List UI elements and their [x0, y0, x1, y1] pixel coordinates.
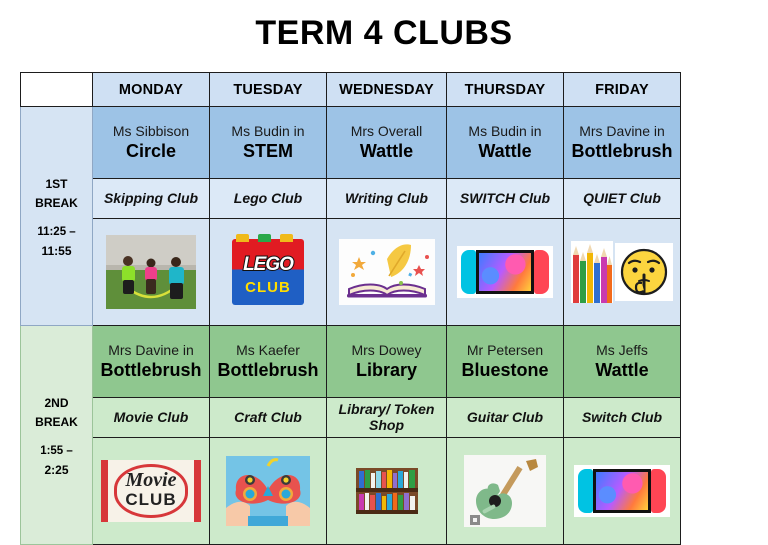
cell-club-fri-1: QUIET Club	[564, 179, 681, 219]
cell-club-fri-2: Switch Club	[564, 398, 681, 438]
coloured-pencils-photo	[571, 241, 613, 303]
switch-left-joycon	[578, 469, 593, 513]
nintendo-switch-console	[457, 246, 553, 298]
teacher-room: Bottlebrush	[564, 141, 680, 162]
cell-club-mon-1: Skipping Club	[93, 179, 210, 219]
cell-club-thu-1: SWITCH Club	[447, 179, 564, 219]
teacher-name: Mrs Davine in	[93, 342, 209, 359]
first-break-teacher-row: 1ST BREAK 11:25 – 11:55 Ms Sibbison Circ…	[21, 107, 681, 179]
first-break-club-row: Skipping Club Lego Club Writing Club SWI…	[21, 179, 681, 219]
second-break-club-row: Movie Club Craft Club Library/ Token Sho…	[21, 398, 681, 438]
cell-club-tue-2: Craft Club	[210, 398, 327, 438]
skipping-rope-photo	[106, 235, 196, 309]
teacher-room: Bottlebrush	[210, 360, 326, 381]
teacher-name: Ms Kaefer	[210, 342, 326, 359]
cell-teacher-thu-1: Ms Budin in Wattle	[447, 107, 564, 179]
cell-teacher-wed-1: Mrs Overall Wattle	[327, 107, 447, 179]
teacher-name: Ms Budin in	[447, 123, 563, 140]
quill-and-book	[339, 239, 435, 305]
second-break-time-end: 2:25	[21, 459, 92, 478]
cell-teacher-thu-2: Mr Petersen Bluestone	[447, 326, 564, 398]
cell-picture-mon-2: Movie CLUB	[93, 438, 210, 545]
teacher-room: Wattle	[327, 141, 446, 162]
movie-logo-word1: Movie	[108, 469, 194, 492]
table-header-row: MONDAY TUESDAY WEDNESDAY THURSDAY FRIDAY	[21, 73, 681, 107]
acoustic-guitar	[464, 455, 546, 527]
teacher-room: Wattle	[447, 141, 563, 162]
day-header-thursday: THURSDAY	[447, 73, 564, 107]
teacher-name: Ms Jeffs	[564, 342, 680, 359]
cell-picture-tue-1: LEGO CLUB	[210, 219, 327, 326]
second-break-label-cell: 2ND BREAK 1:55 – 2:25	[21, 326, 93, 545]
bookshelf-photo	[356, 468, 418, 514]
craft-butterfly-photo	[226, 456, 310, 526]
pencils-and-shush-emoji	[571, 241, 673, 303]
lego-logo-word2: CLUB	[232, 279, 304, 296]
shushing-face-emoji	[615, 243, 673, 301]
switch-right-joycon	[534, 250, 549, 294]
movie-logo-word2: CLUB	[108, 490, 194, 510]
teacher-name: Ms Budin in	[210, 123, 326, 140]
second-break-picture-row: Movie CLUB	[21, 438, 681, 545]
cell-teacher-tue-2: Ms Kaefer Bottlebrush	[210, 326, 327, 398]
teacher-name: Mrs Dowey	[327, 342, 446, 359]
first-break-time-end: 11:55	[21, 240, 92, 259]
cell-teacher-wed-2: Mrs Dowey Library	[327, 326, 447, 398]
cell-picture-mon-1	[93, 219, 210, 326]
first-break-picture-row: LEGO CLUB	[21, 219, 681, 326]
cell-teacher-fri-2: Ms Jeffs Wattle	[564, 326, 681, 398]
teacher-room: Wattle	[564, 360, 680, 381]
nintendo-switch-console	[574, 465, 670, 517]
cell-teacher-mon-1: Ms Sibbison Circle	[93, 107, 210, 179]
cell-picture-thu-2	[447, 438, 564, 545]
teacher-room: Bottlebrush	[93, 360, 209, 381]
switch-left-joycon	[461, 250, 476, 294]
cell-picture-tue-2	[210, 438, 327, 545]
cell-picture-thu-1	[447, 219, 564, 326]
lego-club-logo: LEGO CLUB	[232, 239, 304, 305]
teacher-room: Library	[327, 360, 446, 381]
cell-picture-fri-2	[564, 438, 681, 545]
cell-picture-fri-1	[564, 219, 681, 326]
switch-right-joycon	[651, 469, 666, 513]
cell-teacher-tue-1: Ms Budin in STEM	[210, 107, 327, 179]
cell-club-mon-2: Movie Club	[93, 398, 210, 438]
teacher-name: Mr Petersen	[447, 342, 563, 359]
movie-club-logo: Movie CLUB	[101, 460, 201, 522]
second-break-line1: 2ND	[21, 392, 92, 411]
first-break-line1: 1ST	[21, 173, 92, 192]
second-break-time-start: 1:55 –	[21, 444, 92, 458]
header-corner-cell	[21, 73, 93, 107]
lego-logo-word1: LEGO	[232, 254, 304, 276]
teacher-room: Circle	[93, 141, 209, 162]
teacher-name: Ms Sibbison	[93, 123, 209, 140]
day-header-monday: MONDAY	[93, 73, 210, 107]
cell-club-tue-1: Lego Club	[210, 179, 327, 219]
teacher-room: Bluestone	[447, 360, 563, 381]
cell-picture-wed-2	[327, 438, 447, 545]
teacher-name: Mrs Overall	[327, 123, 446, 140]
switch-screen	[476, 250, 534, 294]
cell-teacher-fri-1: Mrs Davine in Bottlebrush	[564, 107, 681, 179]
day-header-friday: FRIDAY	[564, 73, 681, 107]
switch-screen	[593, 469, 651, 513]
cell-picture-wed-1	[327, 219, 447, 326]
cell-club-thu-2: Guitar Club	[447, 398, 564, 438]
second-break-line2: BREAK	[21, 411, 92, 430]
first-break-line2: BREAK	[21, 192, 92, 211]
day-header-tuesday: TUESDAY	[210, 73, 327, 107]
clubs-schedule-table: MONDAY TUESDAY WEDNESDAY THURSDAY FRIDAY…	[20, 72, 681, 545]
page-title: TERM 4 CLUBS	[0, 14, 768, 53]
second-break-teacher-row: 2ND BREAK 1:55 – 2:25 Mrs Davine in Bott…	[21, 326, 681, 398]
first-break-time-start: 11:25 –	[21, 225, 92, 239]
cell-teacher-mon-2: Mrs Davine in Bottlebrush	[93, 326, 210, 398]
first-break-label-cell: 1ST BREAK 11:25 – 11:55	[21, 107, 93, 326]
teacher-name: Mrs Davine in	[564, 123, 680, 140]
teacher-room: STEM	[210, 141, 326, 162]
cell-club-wed-2: Library/ Token Shop	[327, 398, 447, 438]
schedule-page: TERM 4 CLUBS MONDAY TUESDAY WEDNESDAY TH…	[0, 0, 768, 545]
cell-club-wed-1: Writing Club	[327, 179, 447, 219]
day-header-wednesday: WEDNESDAY	[327, 73, 447, 107]
